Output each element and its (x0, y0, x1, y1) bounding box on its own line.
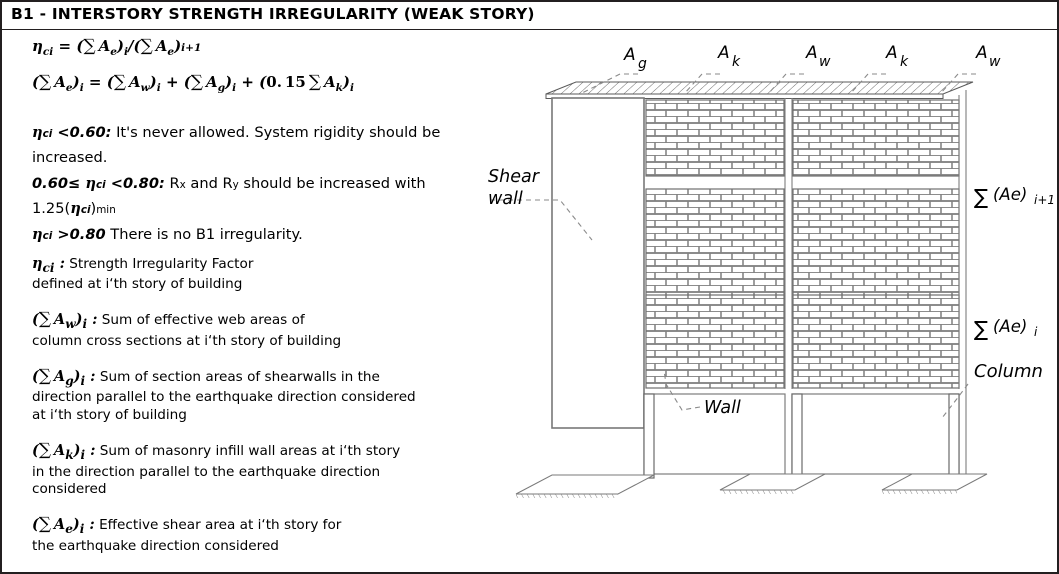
label-sum-ae-i-sigma: ∑ (974, 317, 988, 341)
ground-column-1 (644, 394, 654, 478)
label-aw1-sub: w (819, 54, 831, 70)
label-shear-wall-line2: wall (488, 189, 523, 209)
label-ag-sub: g (638, 56, 647, 72)
soft-story-open-frame (644, 394, 959, 478)
roof-slab (546, 82, 973, 99)
def-ae: (∑ Ae)i : Effective shear area at i‘th s… (32, 514, 504, 555)
left-text-column: ηci = (∑ Ae)i/(∑ Ae)i+1 (∑ Ae)i = (∑ Aw)… (24, 36, 504, 555)
label-aw1-base: A (805, 43, 818, 63)
label-ak1-sub: k (732, 54, 741, 70)
label-sum-ae-i-paren: (Ae) (993, 317, 1027, 336)
label-wall: Wall (704, 398, 741, 418)
label-aw2-base: A (975, 43, 988, 63)
right-labels: ∑ (Ae) i+1 ∑ (Ae) i Column (974, 185, 1055, 382)
label-wall-text: Wall (704, 398, 741, 418)
formula-eta-definition: ηci = (∑ Ae)i/(∑ Ae)i+1 (32, 36, 504, 58)
infill-wall-bay2-story1 (793, 295, 959, 388)
label-shear-wall: Shear wall (488, 167, 541, 209)
story-3-infill-walls (646, 100, 959, 176)
label-sum-ae-i-plus-1-sigma: ∑ (974, 185, 988, 209)
infill-wall-bay2-story3 (793, 100, 959, 176)
story-1-infill-walls (646, 295, 959, 388)
title-bar: B1 - INTERSTORY STRENGTH IRREGULARITY (W… (2, 2, 1057, 30)
page-title: B1 - INTERSTORY STRENGTH IRREGULARITY (W… (11, 5, 535, 23)
weak-story-building-elevation: A g A k A w A k A w Shear wall Wall (468, 32, 1058, 574)
rule-above-080: ηci >0.80 There is no B1 irregularity. (32, 223, 504, 248)
infill-wall-bay1-story1 (646, 295, 784, 388)
shear-wall-panel (552, 98, 644, 428)
def-eta: ηci : Strength Irregularity Factordefine… (32, 255, 504, 294)
label-ak1-base: A (717, 43, 730, 63)
infill-wall-bay1-story3 (646, 100, 784, 176)
footing-column-2 (720, 474, 825, 490)
rule-above-080-text: There is no B1 irregularity. (110, 226, 302, 243)
rule-below-060: ηci <0.60: It's never allowed. System ri… (32, 121, 504, 170)
label-sum-ae-i-plus-1-paren: (Ae) (993, 185, 1027, 204)
formula-ae-definition: (∑ Ae)i = (∑ Aw)i + (∑ Ag)i + (0. 15 ∑ A… (32, 72, 504, 94)
ground-column-2 (792, 394, 802, 478)
def-ak: (∑ Ak)i : Sum of masonry infill wall are… (32, 440, 504, 498)
label-sum-ae-i-plus-1-sub: i+1 (1034, 193, 1055, 207)
label-column-text: Column (974, 361, 1043, 382)
label-ag-base: A (623, 45, 636, 65)
footing-column-3 (882, 474, 987, 490)
label-sum-ae-i-sub: i (1034, 325, 1038, 339)
label-aw2-sub: w (989, 54, 1001, 70)
rule-060-080: 0.60≤ ηci <0.80: Rx and Ry should be inc… (32, 172, 504, 221)
diagram-container: A g A k A w A k A w Shear wall Wall (468, 32, 1058, 574)
label-ak2-base: A (885, 43, 898, 63)
foundations (516, 474, 987, 498)
label-shear-wall-line1: Shear (488, 167, 541, 187)
def-aw: (∑ Aw)i : Sum of effective web areas ofc… (32, 309, 504, 350)
footing-shear-wall (516, 475, 654, 494)
def-ag: (∑ Ag)i : Sum of section areas of shearw… (32, 366, 504, 424)
top-labels: A g A k A w A k A w (623, 43, 1001, 72)
slide-root: B1 - INTERSTORY STRENGTH IRREGULARITY (W… (0, 0, 1059, 574)
label-ak2-sub: k (900, 54, 909, 70)
